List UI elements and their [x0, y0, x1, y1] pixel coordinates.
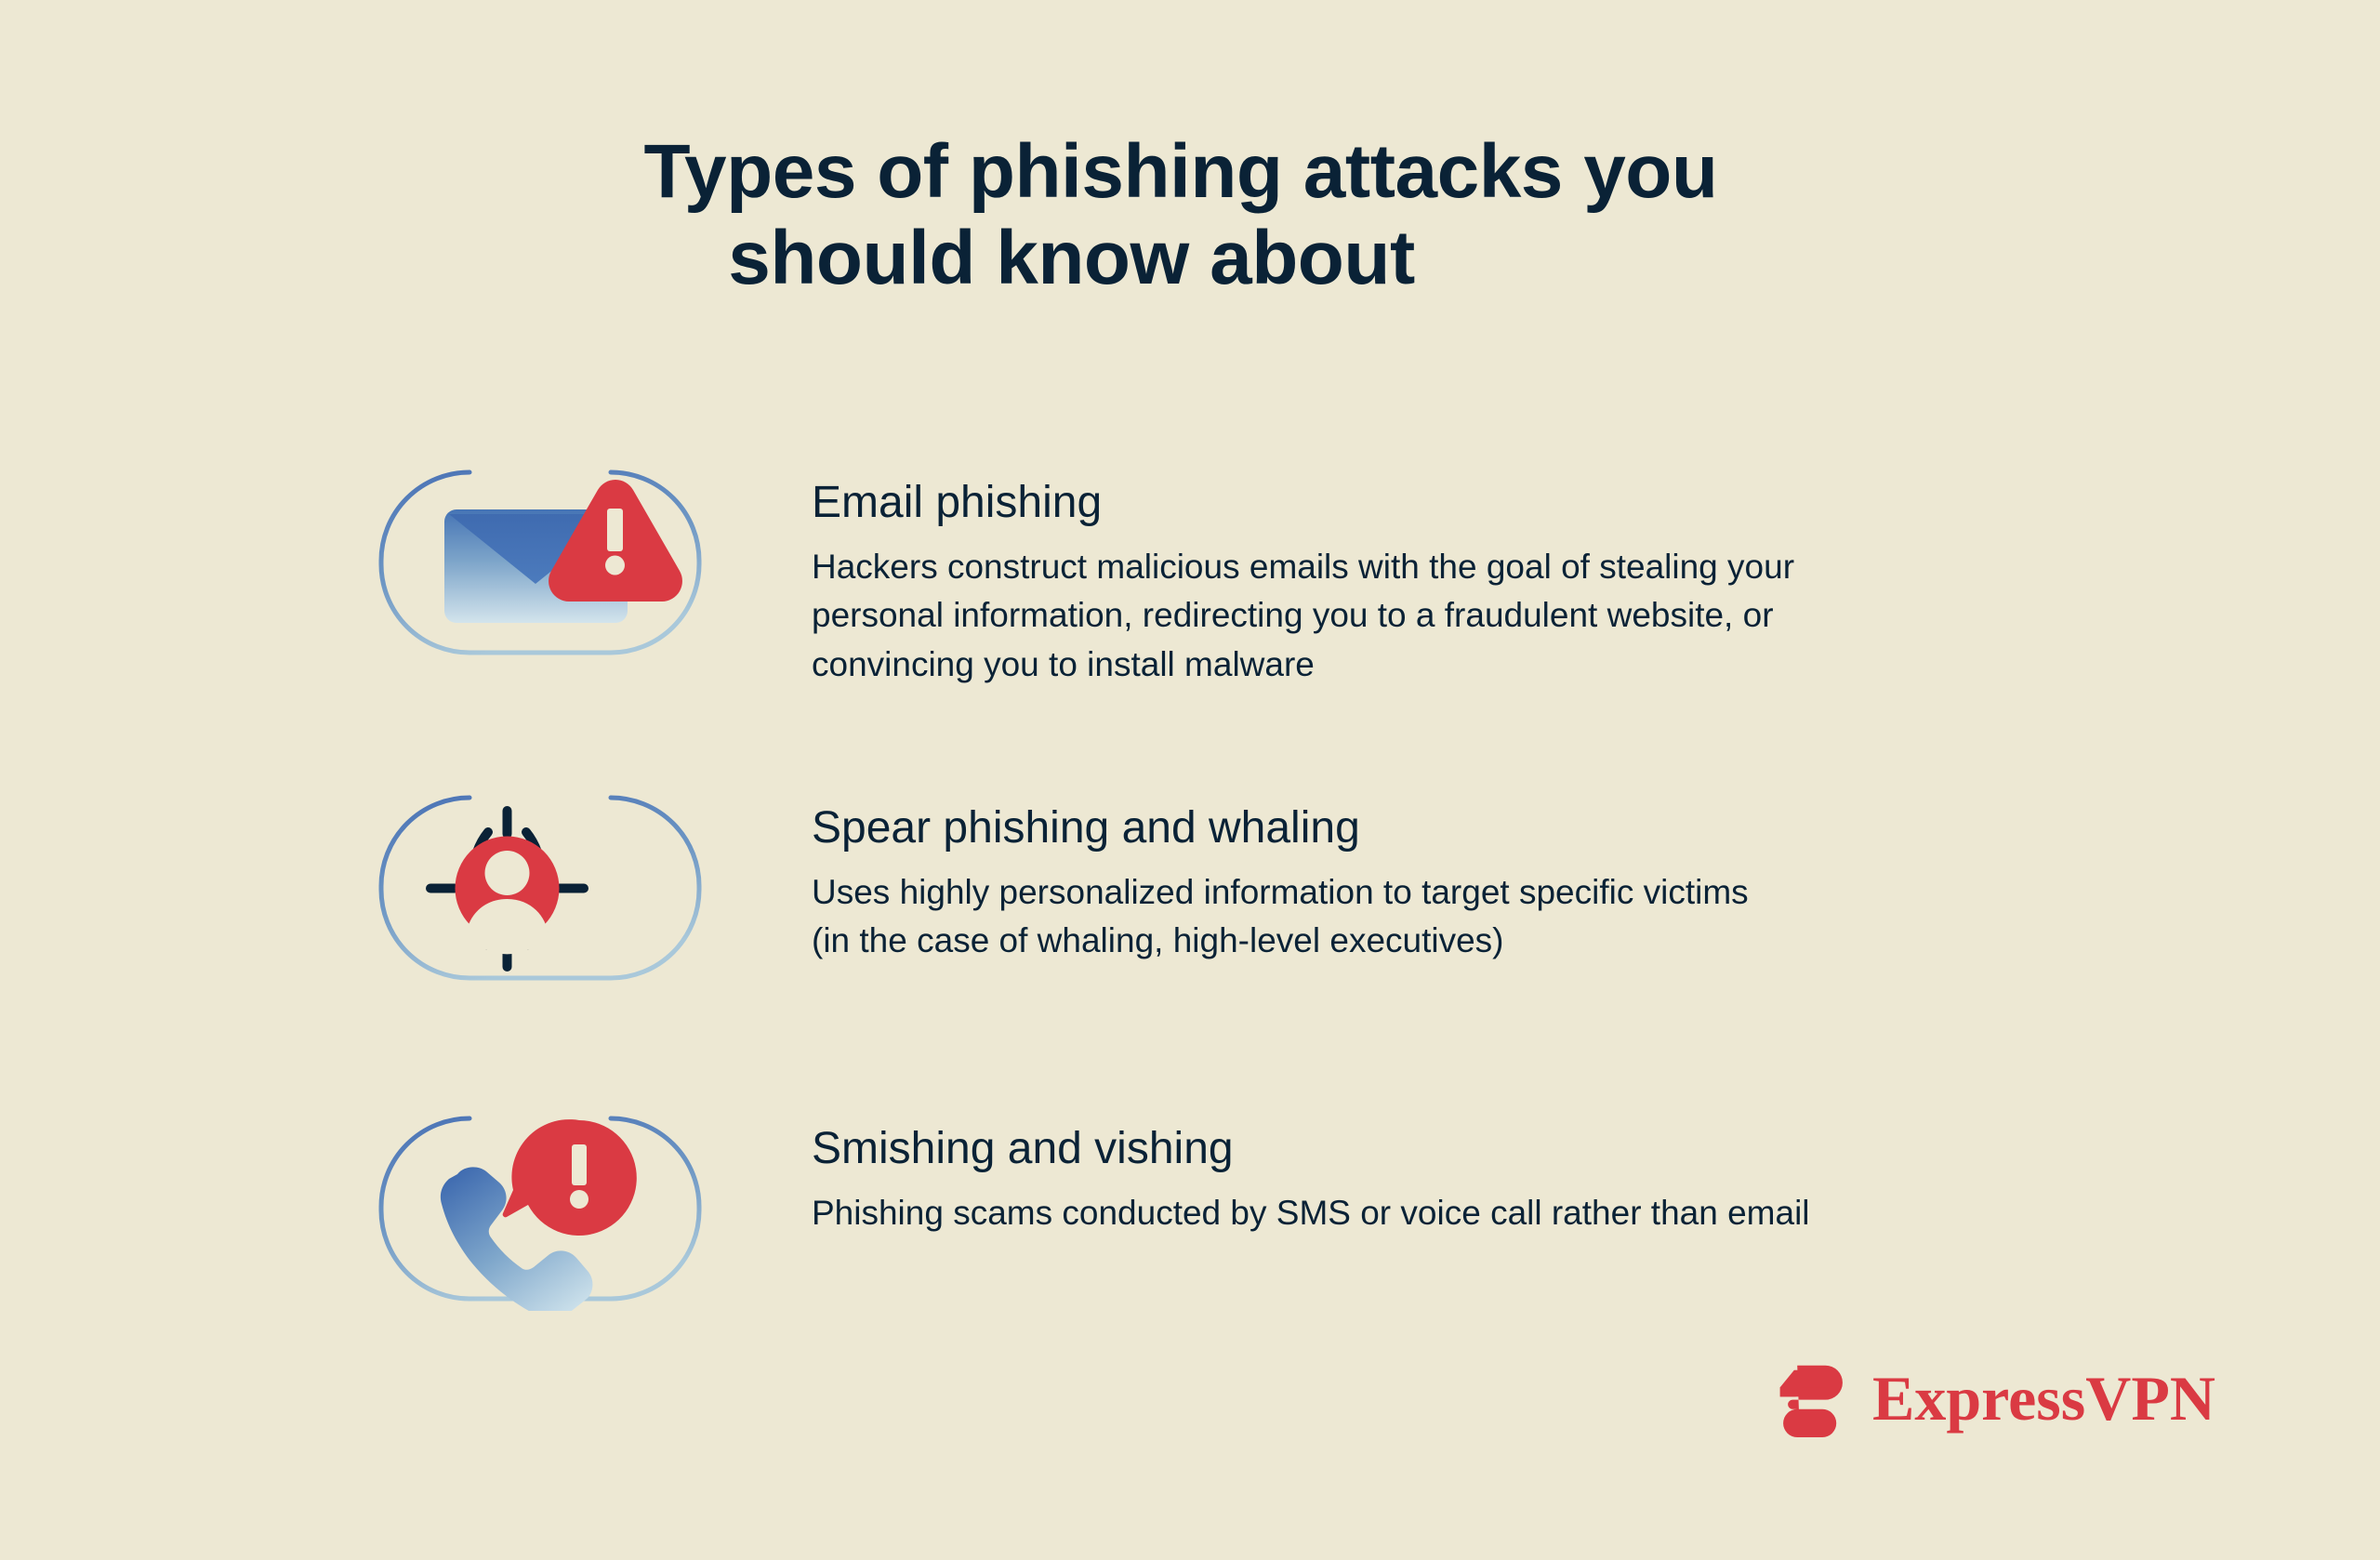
infographic-page: Types of phishing attacks you should kno… [0, 0, 2380, 1560]
email-warning-icon [358, 460, 730, 665]
expressvpn-wordmark: ExpressVPN [1872, 1367, 2215, 1430]
list-item: Spear phishing and whaling Uses highly p… [358, 786, 1749, 990]
item-heading: Email phishing [812, 477, 1794, 530]
item-body-line: Phishing scams conducted by SMS or voice… [812, 1189, 1810, 1238]
page-title-line-1: Types of phishing attacks you [0, 128, 2380, 215]
item-text: Smishing and vishing Phishing scams cond… [730, 1106, 1810, 1237]
item-body-line: convincing you to install malware [812, 641, 1794, 690]
list-item: Email phishing Hackers construct malicio… [358, 460, 1794, 689]
item-body-line: (in the case of whaling, high-level exec… [812, 917, 1749, 966]
phone-alert-icon [358, 1106, 730, 1311]
item-body: Phishing scams conducted by SMS or voice… [812, 1189, 1810, 1238]
page-title: Types of phishing attacks you should kno… [0, 128, 2380, 302]
item-text: Email phishing Hackers construct malicio… [730, 460, 1794, 689]
item-body: Hackers construct malicious emails with … [812, 543, 1794, 690]
expressvpn-e-mark-icon [1774, 1359, 1852, 1437]
expressvpn-logo: ExpressVPN [1774, 1359, 2215, 1437]
item-body: Uses highly personalized information to … [812, 868, 1749, 966]
item-heading: Spear phishing and whaling [812, 802, 1749, 855]
item-heading: Smishing and vishing [812, 1123, 1810, 1176]
page-title-line-2: should know about [0, 215, 2380, 301]
item-text: Spear phishing and whaling Uses highly p… [730, 786, 1749, 966]
item-body-line: personal information, redirecting you to… [812, 591, 1794, 641]
item-body-line: Hackers construct malicious emails with … [812, 543, 1794, 592]
item-body-line: Uses highly personalized information to … [812, 868, 1749, 918]
target-person-icon [358, 786, 730, 990]
list-item: Smishing and vishing Phishing scams cond… [358, 1106, 1810, 1311]
